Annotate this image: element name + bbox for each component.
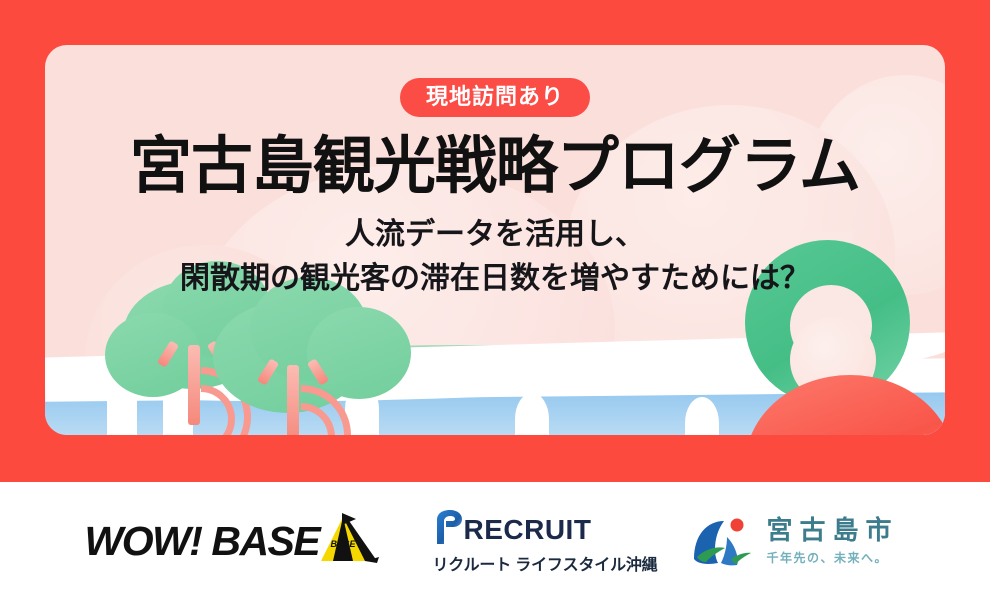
logo-miyakojima-city: 宮古島市 千年先の、未来へ。	[691, 510, 906, 572]
hero-text-block: 現地訪問あり 宮古島観光戦略プログラム 人流データを活用し、 閑散期の観光客の滞…	[45, 45, 945, 435]
miyakojima-tagline: 千年先の、未来へ。	[767, 549, 899, 566]
tent-icon: BASE	[307, 511, 381, 567]
wow-base-wordmark: WOW! BASE	[85, 521, 320, 562]
hero-subtitle-line-2: 閑散期の観光客の滞在日数を増やすためには？	[45, 257, 945, 301]
hero-subtitle: 人流データを活用し、 閑散期の観光客の滞在日数を増やすためには？	[45, 213, 945, 300]
hero-subtitle-line-1: 人流データを活用し、	[45, 213, 945, 257]
miyakojima-wordmark: 宮古島市	[767, 516, 899, 545]
recruit-r-icon	[433, 510, 463, 544]
partner-logo-bar: WOW! BASE BASE	[0, 482, 990, 600]
logo-recruit: RECRUIT リクルート ライフスタイル沖縄	[433, 510, 633, 572]
miyakojima-lockup: 宮古島市 千年先の、未来へ。	[767, 516, 899, 566]
recruit-lockup: RECRUIT	[433, 510, 592, 544]
page-title: 宮古島観光戦略プログラム	[45, 133, 945, 201]
logo-wow-base: WOW! BASE BASE	[85, 509, 375, 573]
status-badge: 現地訪問あり	[400, 78, 590, 117]
svg-text:BASE: BASE	[330, 539, 356, 549]
recruit-subtitle: リクルート ライフスタイル沖縄	[433, 551, 658, 575]
poster-canvas: 現地訪問あり 宮古島観光戦略プログラム 人流データを活用し、 閑散期の観光客の滞…	[0, 0, 990, 600]
recruit-wordmark: RECRUIT	[464, 516, 592, 544]
miyakojima-wave-sun-icon	[691, 515, 757, 567]
